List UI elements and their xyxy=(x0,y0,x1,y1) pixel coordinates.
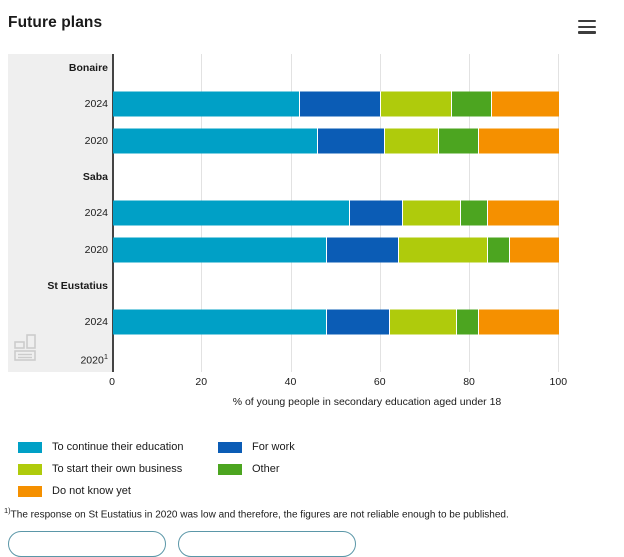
bar-segment[interactable] xyxy=(385,129,439,154)
x-tick-40: 40 xyxy=(285,376,297,388)
footnote: 1)The response on St Eustatius in 2020 w… xyxy=(4,504,614,521)
legend-swatch xyxy=(18,486,42,497)
legend-item[interactable]: Other xyxy=(218,458,295,480)
hamburger-menu-icon[interactable] xyxy=(578,20,596,34)
legend-item[interactable]: Do not know yet xyxy=(18,480,183,502)
bar-segment[interactable] xyxy=(350,201,404,226)
bar-segment[interactable] xyxy=(381,92,452,117)
bar-segment[interactable] xyxy=(439,129,479,154)
y-axis-row-label: 2024 xyxy=(8,207,108,219)
legend-column-1: To continue their educationTo start thei… xyxy=(18,436,183,502)
y-axis-row-label: 2020 xyxy=(8,244,108,256)
bar-segment[interactable] xyxy=(113,129,318,154)
legend-label: To start their own business xyxy=(52,463,182,475)
stacked-bar[interactable] xyxy=(113,129,559,154)
x-tick-0: 0 xyxy=(109,376,115,388)
bar-segment[interactable] xyxy=(461,201,488,226)
bar-segment[interactable] xyxy=(399,238,488,263)
bar-segment[interactable] xyxy=(479,129,559,154)
footnote-text: The response on St Eustatius in 2020 was… xyxy=(11,509,509,520)
menu-bar-3 xyxy=(578,31,596,33)
legend-label: To continue their education xyxy=(52,441,183,453)
legend-label: Other xyxy=(252,463,280,475)
y-axis-group-label: Saba xyxy=(8,171,108,183)
bar-segment[interactable] xyxy=(327,310,389,335)
y-axis-row-label: 2024 xyxy=(8,98,108,110)
x-tick-100: 100 xyxy=(550,376,568,388)
legend-item[interactable]: For work xyxy=(218,436,295,458)
bar-segment[interactable] xyxy=(113,238,327,263)
action-button-2[interactable] xyxy=(178,531,356,557)
action-button-1[interactable] xyxy=(8,531,166,557)
x-tick-60: 60 xyxy=(374,376,386,388)
legend-swatch xyxy=(218,442,242,453)
cbs-logo xyxy=(14,334,40,362)
bar-segment[interactable] xyxy=(390,310,457,335)
x-axis-title: % of young people in secondary education… xyxy=(0,396,624,408)
action-button-row xyxy=(8,531,618,557)
legend-column-2: For workOther xyxy=(218,436,295,480)
stacked-bar[interactable] xyxy=(113,92,559,117)
x-tick-20: 20 xyxy=(195,376,207,388)
x-tick-80: 80 xyxy=(463,376,475,388)
bar-segment[interactable] xyxy=(300,92,380,117)
legend-swatch xyxy=(218,464,242,475)
legend-label: Do not know yet xyxy=(52,485,131,497)
stacked-bar[interactable] xyxy=(113,238,559,263)
page-title: Future plans xyxy=(8,14,102,32)
bar-segment[interactable] xyxy=(510,238,559,263)
stacked-bar[interactable] xyxy=(113,201,559,226)
y-label-footnote-marker: 1 xyxy=(104,352,108,361)
bar-segment[interactable] xyxy=(113,201,350,226)
y-axis-row-label: 2020 xyxy=(8,135,108,147)
y-axis-group-label: St Eustatius xyxy=(8,280,108,292)
menu-bar-1 xyxy=(578,20,596,22)
legend-item[interactable]: To start their own business xyxy=(18,458,183,480)
bar-segment[interactable] xyxy=(492,92,559,117)
bar-segment[interactable] xyxy=(488,238,510,263)
bar-segment[interactable] xyxy=(479,310,559,335)
footnote-marker: 1) xyxy=(4,506,11,515)
legend-swatch xyxy=(18,442,42,453)
bar-segment[interactable] xyxy=(452,92,492,117)
y-axis-group-label: Bonaire xyxy=(8,62,108,74)
stacked-bar[interactable] xyxy=(113,310,559,335)
bar-segment[interactable] xyxy=(327,238,398,263)
bar-segment[interactable] xyxy=(403,201,461,226)
bar-segment[interactable] xyxy=(113,310,327,335)
legend-swatch xyxy=(18,464,42,475)
bar-segment[interactable] xyxy=(318,129,385,154)
bar-segment[interactable] xyxy=(488,201,559,226)
bar-segment[interactable] xyxy=(113,92,300,117)
legend-item[interactable]: To continue their education xyxy=(18,436,183,458)
chart-header: Future plans xyxy=(0,0,624,46)
bar-segment[interactable] xyxy=(457,310,479,335)
legend-label: For work xyxy=(252,441,295,453)
chart-plot-area: Bonaire20242020Saba20242020St Eustatius2… xyxy=(0,46,624,386)
menu-bar-2 xyxy=(578,26,596,28)
y-axis-row-label: 2024 xyxy=(8,316,108,328)
